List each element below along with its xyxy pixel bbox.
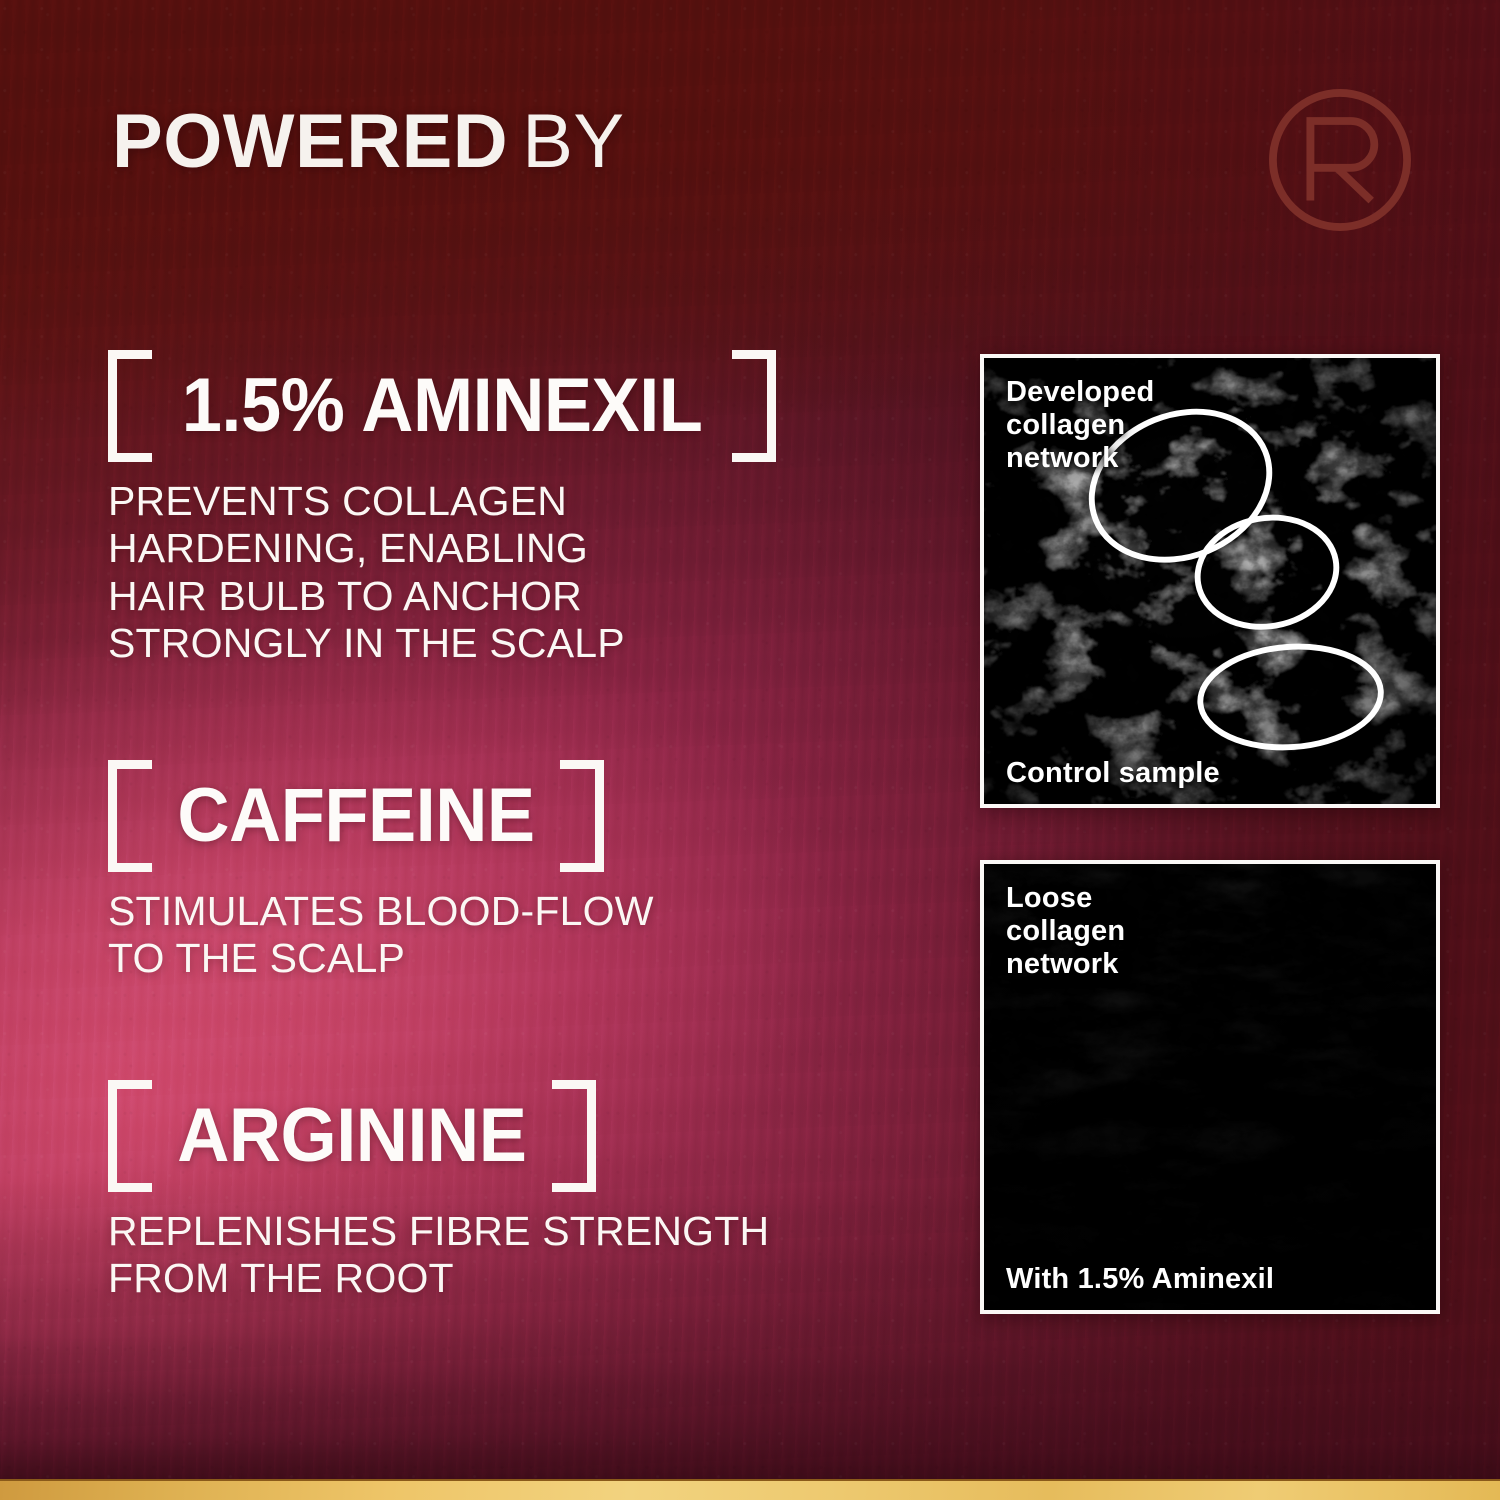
headline-strong: POWERED: [112, 99, 508, 184]
ingredient-block-arginine: ARGININE REPLENISHES FIBRE STRENGTH FROM…: [108, 1078, 769, 1303]
bracket-left-icon: [108, 1080, 152, 1192]
bottom-gold-band: [0, 1479, 1500, 1500]
bracket-left-icon: [108, 760, 152, 872]
bracket-left-icon: [108, 350, 152, 462]
promo-banner: POWEREDBY 1.5% AMINEXIL PREVENTS COLLAGE…: [0, 0, 1500, 1500]
bracket-right-icon: [732, 350, 776, 462]
page-title: POWEREDBY: [112, 104, 625, 180]
ingredient-description: STIMULATES BLOOD-FLOW TO THE SCALP: [108, 888, 654, 983]
bracket-right-icon: [552, 1080, 596, 1192]
ingredient-block-aminexil: 1.5% AMINEXIL PREVENTS COLLAGEN HARDENIN…: [108, 348, 776, 667]
bracket-right-icon: [560, 760, 604, 872]
ingredient-description: REPLENISHES FIBRE STRENGTH FROM THE ROOT: [108, 1208, 769, 1303]
ingredient-title: CAFFEINE: [162, 778, 550, 854]
circled-r-logo-icon: [1262, 82, 1418, 238]
ingredient-block-caffeine: CAFFEINE STIMULATES BLOOD-FLOW TO THE SC…: [108, 758, 654, 983]
panel-top-label: Developed collagen network: [1006, 376, 1154, 475]
ingredient-title: 1.5% AMINEXIL: [167, 368, 718, 444]
ingredient-title-row: CAFFEINE: [108, 758, 654, 874]
panel-bottom-label: Control sample: [1006, 757, 1220, 790]
micrograph-panel-aminexil: Loose collagen network With 1.5% Aminexi…: [980, 860, 1440, 1314]
panel-top-label: Loose collagen network: [1006, 882, 1125, 981]
ingredient-title-row: 1.5% AMINEXIL: [108, 348, 776, 464]
ingredient-title: ARGININE: [162, 1098, 542, 1174]
micrograph-panel-control: Developed collagen network Control sampl…: [980, 354, 1440, 808]
ingredient-description: PREVENTS COLLAGEN HARDENING, ENABLING HA…: [108, 478, 776, 667]
panel-bottom-label: With 1.5% Aminexil: [1006, 1263, 1274, 1296]
headline-light: BY: [522, 99, 624, 184]
ingredient-title-row: ARGININE: [108, 1078, 769, 1194]
